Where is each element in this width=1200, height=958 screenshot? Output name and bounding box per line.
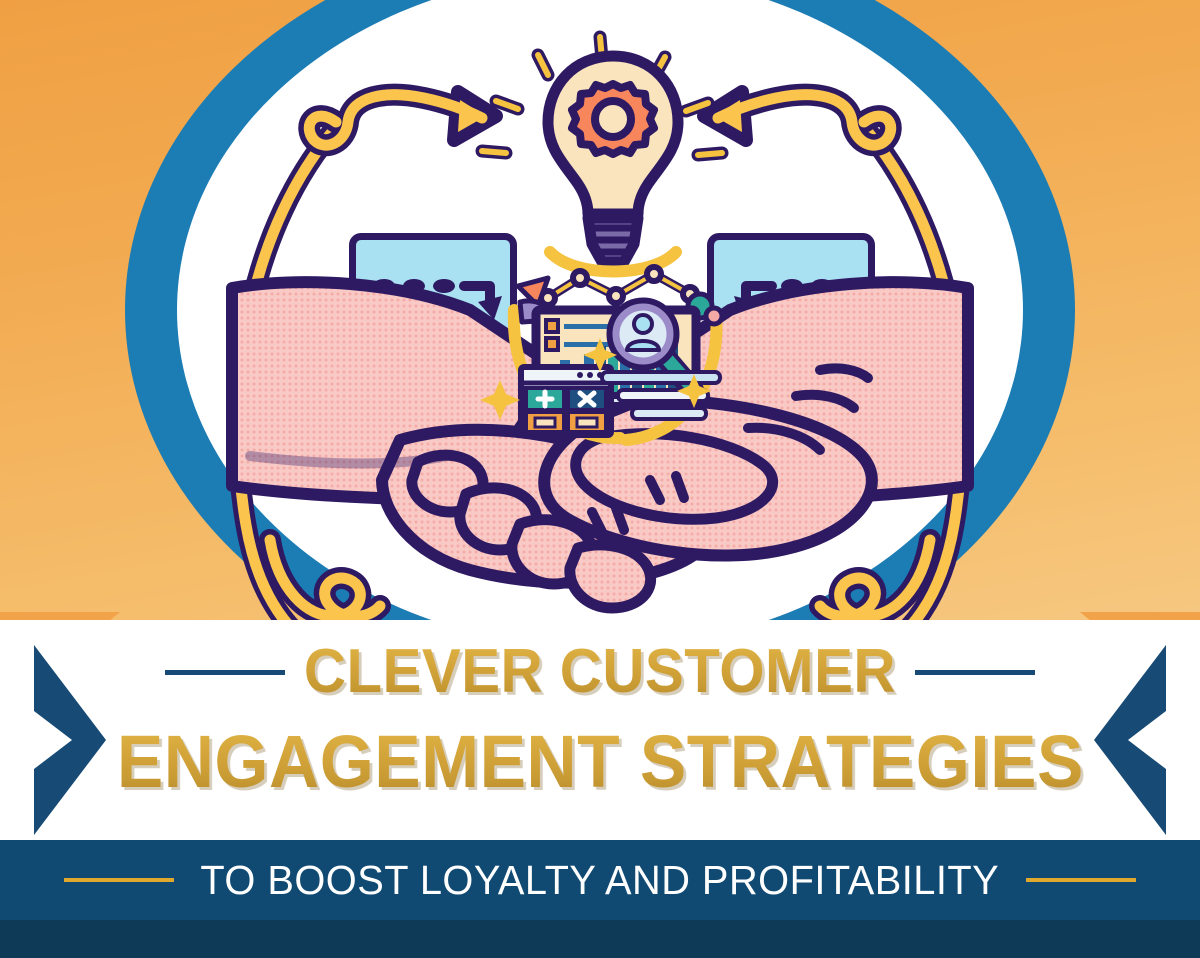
title-line-2-row: ENGAGEMENT STRATEGIES [0, 720, 1200, 804]
title-block: CLEVER CUSTOMER ENGAGEMENT STRATEGIES [0, 636, 1200, 804]
subtitle-bar: TO BOOST LOYALTY AND PROFITABILITY [0, 840, 1200, 920]
infographic-header: CLEVER CUSTOMER ENGAGEMENT STRATEGIES TO… [0, 0, 1200, 958]
emblem-clip [0, 0, 1200, 688]
gear-icon [572, 84, 654, 154]
title-line-1-row: CLEVER CUSTOMER [0, 636, 1200, 708]
page-title-line-2: ENGAGEMENT STRATEGIES [116, 720, 1083, 804]
subtitle-rule-left [64, 878, 174, 882]
title-rule-left [165, 670, 285, 675]
sparkle-icon [480, 330, 720, 450]
subtitle-rule-right [1026, 878, 1136, 882]
title-rule-right [915, 670, 1035, 675]
footer-strip [0, 920, 1200, 958]
page-title-line-1: CLEVER CUSTOMER [304, 636, 896, 708]
page-subtitle: TO BOOST LOYALTY AND PROFITABILITY [201, 857, 1000, 904]
